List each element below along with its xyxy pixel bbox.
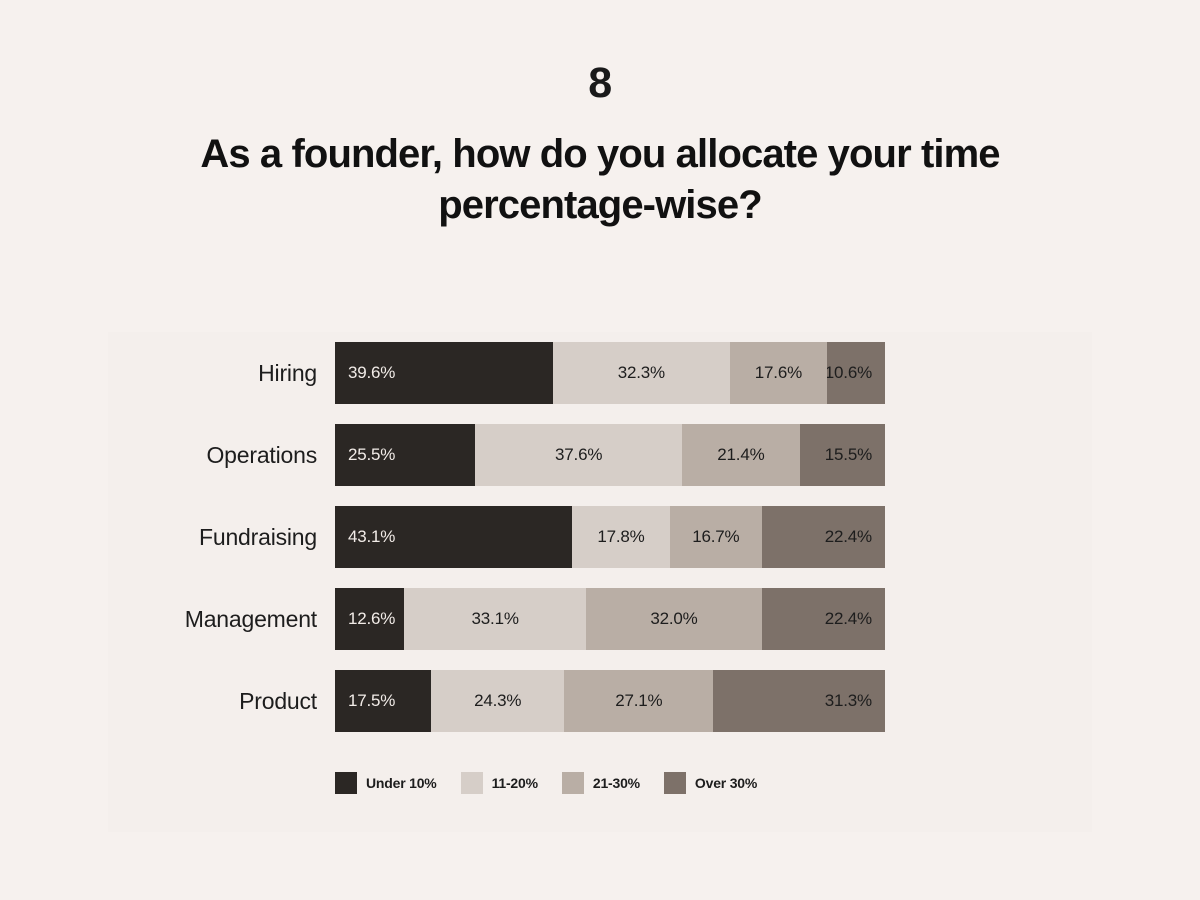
category-label: Hiring [108,360,335,387]
bar-segment: 22.4% [762,506,885,568]
legend-item[interactable]: Over 30% [664,772,757,794]
segment-value-label: 32.0% [650,609,697,629]
bar-segment: 39.6% [335,342,553,404]
legend-swatch-icon [335,772,357,794]
segment-value-label: 22.4% [825,609,872,629]
chart-row: Hiring39.6%32.3%17.6%10.6% [108,332,1092,414]
segment-value-label: 24.3% [474,691,521,711]
segment-value-label: 43.1% [348,527,395,547]
bar-segment: 25.5% [335,424,475,486]
chart-panel: Hiring39.6%32.3%17.6%10.6%Operations25.5… [108,332,1092,832]
legend-label: Over 30% [695,775,757,791]
legend-item[interactable]: 11-20% [461,772,538,794]
bar-segment: 17.6% [730,342,827,404]
segment-value-label: 17.8% [597,527,644,547]
legend-label: 11-20% [492,775,538,791]
bar-segment: 10.6% [827,342,885,404]
segment-value-label: 10.6% [827,363,872,383]
slide-number: 8 [0,62,1200,105]
category-label: Operations [108,442,335,469]
segment-value-label: 39.6% [348,363,395,383]
segment-value-label: 32.3% [618,363,665,383]
slide-header: 8 As a founder, how do you allocate your… [0,0,1200,231]
page-title: As a founder, how do you allocate your t… [90,129,1110,231]
segment-value-label: 12.6% [348,609,395,629]
stacked-bar: 25.5%37.6%21.4%15.5% [335,424,885,486]
segment-value-label: 31.3% [825,691,872,711]
stacked-bar: 43.1%17.8%16.7%22.4% [335,506,885,568]
chart-row: Operations25.5%37.6%21.4%15.5% [108,414,1092,496]
category-label: Product [108,688,335,715]
segment-value-label: 27.1% [615,691,662,711]
segment-value-label: 16.7% [692,527,739,547]
bar-segment: 12.6% [335,588,404,650]
segment-value-label: 17.5% [348,691,395,711]
segment-value-label: 33.1% [472,609,519,629]
bar-segment: 22.4% [762,588,885,650]
bar-segment: 17.5% [335,670,431,732]
segment-value-label: 15.5% [825,445,872,465]
stacked-bar: 12.6%33.1%32.0%22.4% [335,588,885,650]
segment-value-label: 37.6% [555,445,602,465]
legend-swatch-icon [562,772,584,794]
category-label: Management [108,606,335,633]
legend-swatch-icon [664,772,686,794]
bar-segment: 24.3% [431,670,564,732]
bar-segment: 32.0% [586,588,762,650]
chart-row: Fundraising43.1%17.8%16.7%22.4% [108,496,1092,578]
category-label: Fundraising [108,524,335,551]
segment-value-label: 17.6% [755,363,802,383]
segment-value-label: 25.5% [348,445,395,465]
bar-segment: 27.1% [564,670,713,732]
legend-item[interactable]: Under 10% [335,772,437,794]
legend-item[interactable]: 21-30% [562,772,640,794]
bar-segment: 16.7% [670,506,762,568]
bar-segment: 21.4% [682,424,800,486]
chart-row: Product17.5%24.3%27.1%31.3% [108,660,1092,742]
bar-segment: 43.1% [335,506,572,568]
bar-segment: 17.8% [572,506,670,568]
segment-value-label: 21.4% [717,445,764,465]
chart-row: Management12.6%33.1%32.0%22.4% [108,578,1092,660]
bar-segment: 33.1% [404,588,586,650]
bar-segment: 15.5% [800,424,885,486]
chart-legend: Under 10%11-20%21-30%Over 30% [335,772,885,794]
stacked-bar-chart: Hiring39.6%32.3%17.6%10.6%Operations25.5… [108,332,1092,742]
bar-segment: 37.6% [475,424,682,486]
segment-value-label: 22.4% [825,527,872,547]
legend-label: Under 10% [366,775,437,791]
slide-canvas: 8 As a founder, how do you allocate your… [0,0,1200,900]
bar-segment: 32.3% [553,342,730,404]
bar-segment: 31.3% [713,670,885,732]
stacked-bar: 17.5%24.3%27.1%31.3% [335,670,885,732]
stacked-bar: 39.6%32.3%17.6%10.6% [335,342,885,404]
legend-label: 21-30% [593,775,640,791]
legend-swatch-icon [461,772,483,794]
